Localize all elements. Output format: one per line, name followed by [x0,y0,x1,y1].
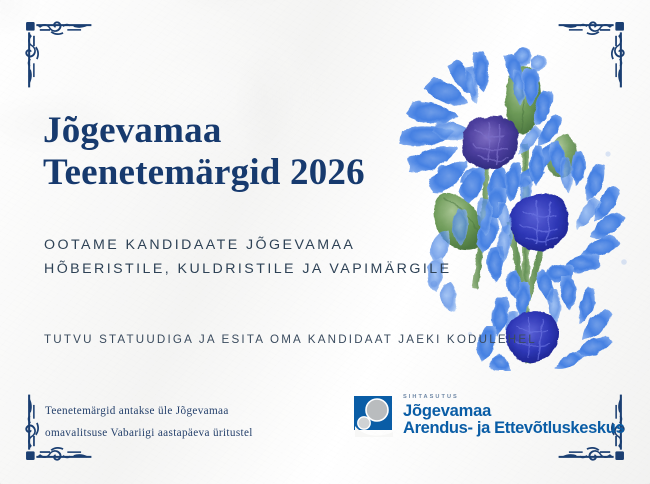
logo-line-2: Arendus- ja Ettevõtluskeskus [403,420,624,437]
subheading: OOTAME KANDIDAATE JÕGEVAMAA HÕBERISTILE,… [44,233,564,282]
footnote-line-1: Teenetemärgid antakse üle Jõgevamaa [45,400,307,422]
footnote-line-2: omavalitsuse Vabariigi aastapäeva üritus… [45,422,307,444]
subheading-line-1: OOTAME KANDIDAATE JÕGEVAMAA [44,233,564,257]
logo-line-1: Jõgevamaa [403,403,624,420]
call-to-action-text: TUTVU STATUUDIGA JA ESITA OMA KANDIDAAT … [44,333,624,346]
footnote: Teenetemärgid antakse üle Jõgevamaa omav… [45,400,307,445]
title-line-1: Jõgevamaa [43,110,443,152]
cornflower-bouquet-illustration [372,26,644,371]
title-line-2: Teenetemärgid 2026 [43,152,443,194]
subheading-line-2: HÕBERISTILE, KULDRISTILE JA VAPIMÄRGILE [44,257,564,281]
jaek-logo-text: SIHTASUTUS Jõgevamaa Arendus- ja Ettevõt… [403,393,624,438]
jaek-logo: SIHTASUTUS Jõgevamaa Arendus- ja Ettevõt… [352,393,624,438]
page-title: Jõgevamaa Teenetemärgid 2026 [43,110,443,194]
logo-kicker: SIHTASUTUS [403,395,624,401]
jaek-logo-mark-icon [352,393,396,437]
ornament-corner-flourish-icon [14,10,100,96]
poster-canvas: Jõgevamaa Teenetemärgid 2026 OOTAME KAND… [0,0,650,484]
